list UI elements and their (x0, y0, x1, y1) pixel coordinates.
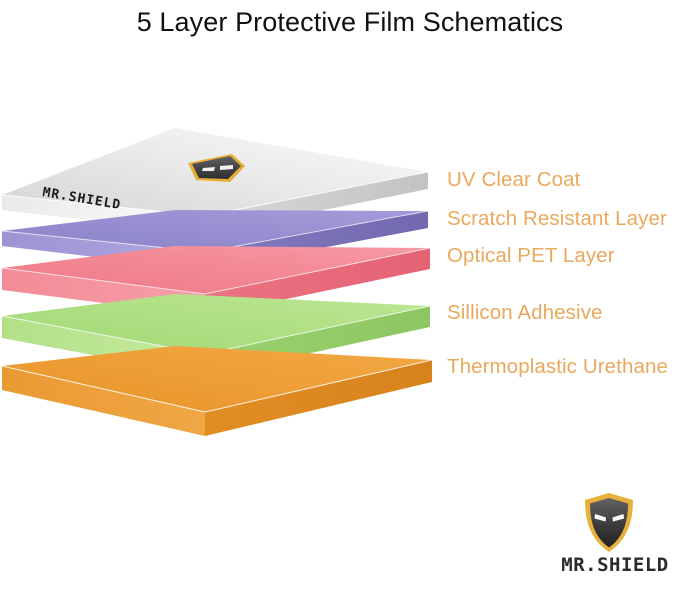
layer-shape-thermoplastic-urethane (2, 346, 432, 436)
brand-lockup: MR.SHIELD (540, 492, 690, 584)
layer-label-optical-pet-layer: Optical PET Layer (447, 244, 615, 268)
layer-label-sillicon-adhesive: Sillicon Adhesive (447, 301, 603, 325)
schematic-page: 5 Layer Protective Film Schematics (0, 0, 700, 590)
layer-stack-diagram: MR.SHIELD (0, 110, 700, 450)
brand-wordmark: MR.SHIELD (540, 554, 690, 576)
layer-label-uv-clear-coat: UV Clear Coat (447, 168, 580, 192)
page-title: 5 Layer Protective Film Schematics (0, 2, 700, 42)
shield-icon (582, 492, 636, 554)
layer-label-scratch-resistant-layer: Scratch Resistant Layer (447, 207, 667, 231)
layer-label-thermoplastic-urethane: Thermoplastic Urethane (447, 355, 668, 379)
